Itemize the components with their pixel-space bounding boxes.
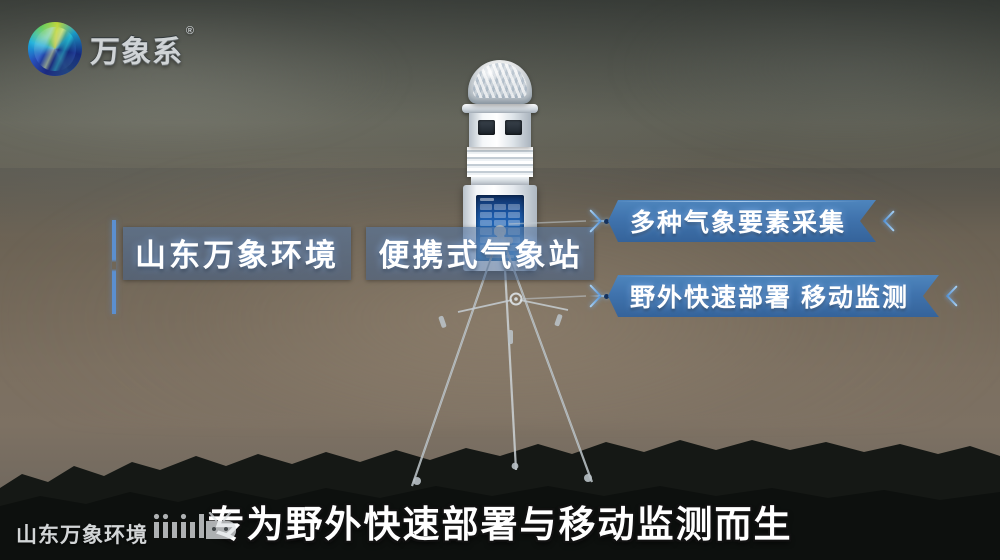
feature-badge-2: 野外快速部署 移动监测 [586,274,961,318]
title-line-2: 便携式气象站 [378,238,582,273]
title-row-company: 山东万象环境 [123,227,351,280]
dome-rim [462,104,538,113]
sensor-vent-right [505,120,522,135]
chevron-left-icon [586,200,608,242]
logo-text-label: 万象系 [90,36,183,69]
feature-badge-1-panel: 多种气象要素采集 [608,200,876,242]
title-row-product: 便携式气象站 [366,227,594,280]
feature-badge-2-panel: 野外快速部署 移动监测 [608,275,939,317]
shield-base [471,177,529,185]
screen-status-bar [480,198,494,201]
brand-watermark: 山东万象环境 [16,519,148,549]
logo-wordmark: 万象系 ® [90,27,183,71]
feature-badge-1-label: 多种气象要素采集 [630,203,846,239]
title-line-1: 山东万象环境 [135,238,339,273]
subtitle-text: 专为野外快速部署与移动监测而生 [208,504,793,545]
video-frame: 山东万象环境 便携式气象站 多种气象要素采集 野外快速部署 移动监测 [0,0,1000,560]
left-title-block: 山东万象环境 便携式气象站 [112,218,594,280]
chevron-left-icon [586,275,608,317]
bilibili-watermark [148,512,244,546]
chevron-right-icon [941,276,961,316]
radiation-shield-ribs [467,147,533,177]
title-accent-bar [112,220,116,314]
globe-swirl-icon [28,22,82,76]
sensor-vent-left [478,120,495,135]
registered-trademark-icon: ® [186,25,195,37]
feature-badge-1: 多种气象要素采集 [586,199,898,243]
brand-logo: 万象系 ® [28,22,183,76]
crystal-dome [468,60,532,104]
chevron-right-icon [878,201,898,241]
sensor-collar [469,113,531,147]
feature-badge-2-label: 野外快速部署 移动监测 [630,278,909,314]
